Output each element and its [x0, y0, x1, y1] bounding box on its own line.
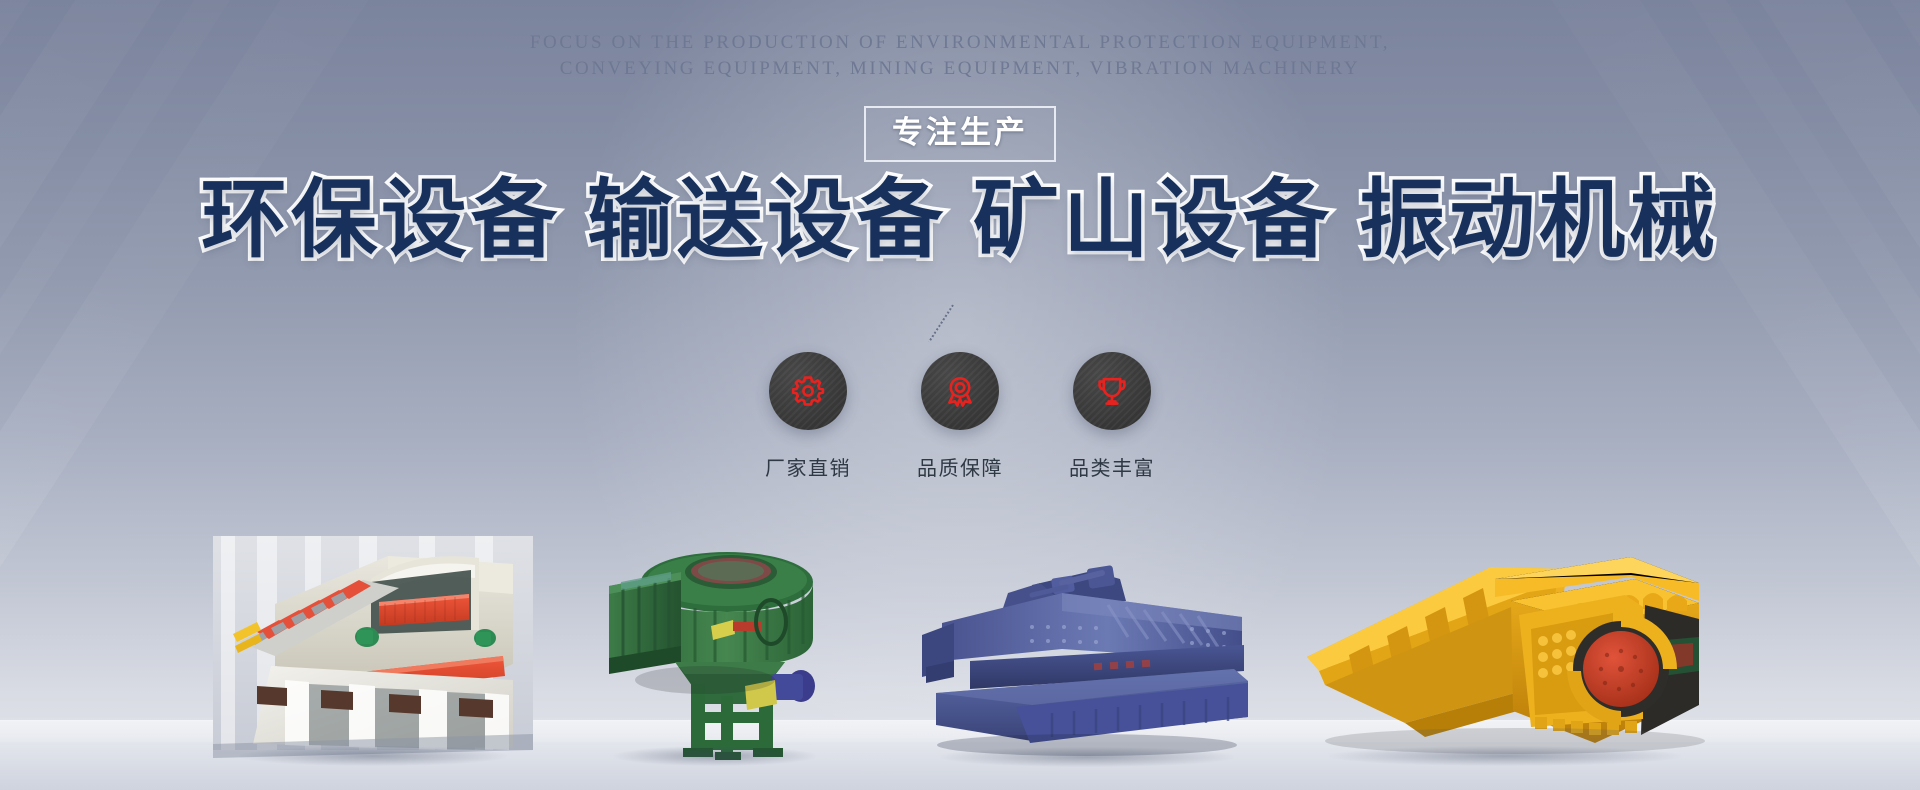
feature-label: 厂家直销	[765, 452, 851, 481]
product-image-filter-separator-machine[interactable]	[213, 534, 533, 760]
medal-icon	[921, 352, 999, 430]
trophy-icon	[1073, 352, 1151, 430]
hero-banner: FOCUS ON THE PRODUCTION OF ENVIRONMENTAL…	[0, 0, 1920, 790]
headline-part-3: 矿山设备	[973, 172, 1333, 268]
headline-part-1: 环保设备	[201, 172, 561, 268]
headline-part-4: 振动机械	[1359, 172, 1719, 268]
feature-list: 厂家直销 品质保障	[766, 352, 1154, 481]
page-title: 环保设备输送设备矿山设备振动机械	[0, 172, 1920, 268]
subtitle-line-1: FOCUS ON THE PRODUCTION OF ENVIRONMENTAL…	[0, 30, 1920, 56]
feature-item-factory-direct[interactable]: 厂家直销	[766, 352, 850, 481]
banner-subtitle: FOCUS ON THE PRODUCTION OF ENVIRONMENTAL…	[0, 30, 1920, 82]
subtitle-line-2: CONVEYING EQUIPMENT, MINING EQUIPMENT, V…	[0, 56, 1920, 82]
focus-production-badge: 专注生产	[864, 106, 1056, 162]
feature-label: 品类丰富	[1069, 452, 1155, 481]
headline-part-2: 输送设备	[587, 172, 947, 268]
feature-label: 品质保障	[917, 452, 1003, 481]
product-image-green-mixer-feeder[interactable]	[595, 534, 835, 760]
product-image-blue-vibrating-screen[interactable]	[912, 565, 1262, 761]
feature-item-rich-variety[interactable]: 品类丰富	[1070, 352, 1154, 481]
product-image-yellow-jaw-crusher[interactable]	[1295, 545, 1715, 760]
feature-item-quality-guarantee[interactable]: 品质保障	[918, 352, 1002, 481]
gear-icon	[769, 352, 847, 430]
